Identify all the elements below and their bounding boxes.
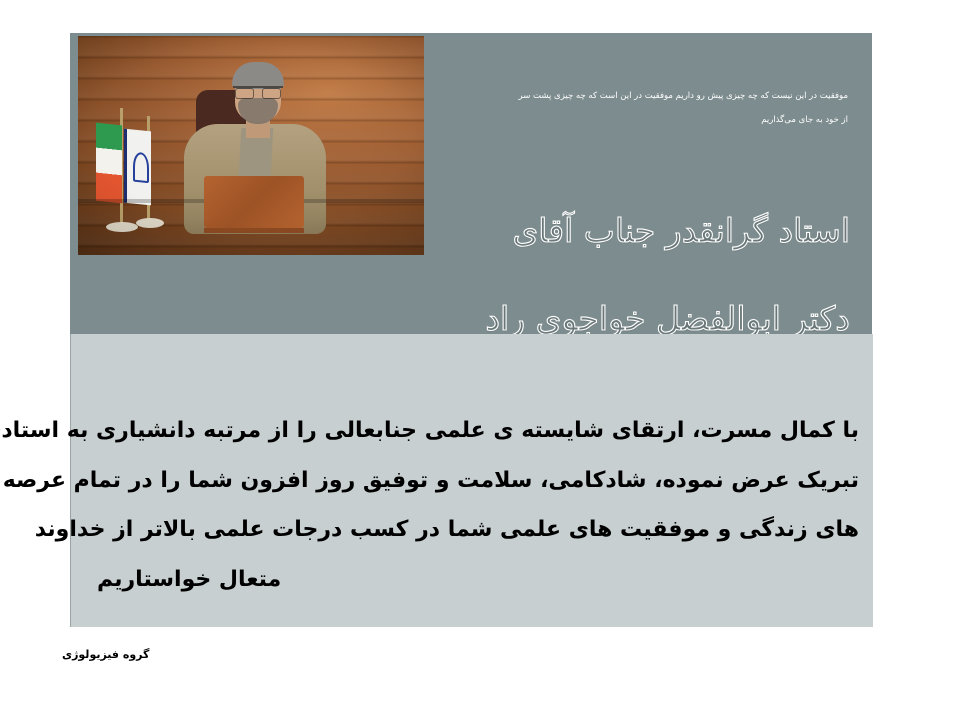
headline-line-2: دکتر ابوالفضل خواجوی راد: [421, 299, 851, 338]
message-line-4: متعال خواستاریم: [86, 555, 860, 605]
quote-line-2: از خود به جای می‌گذاریم: [419, 109, 849, 131]
message-panel: با کمال مسرت، ارتقای شایسته ی علمی جنابع…: [71, 334, 874, 627]
professor-photo: [79, 36, 425, 255]
inspirational-quote: موفقیت در این نیست که چه چیزی پیش رو دار…: [419, 85, 849, 131]
headline-line-1: استاد گرانقدر جناب آقای: [421, 211, 851, 250]
message-line-3: های زندگی و موفقیت های علمی شما در کسب د…: [86, 505, 860, 555]
congratulation-message: با کمال مسرت، ارتقای شایسته ی علمی جنابع…: [86, 406, 860, 604]
department-label: گروه فیزیولوژی: [63, 648, 150, 661]
top-banner: موفقیت در این نیست که چه چیزی پیش رو دار…: [71, 33, 873, 334]
photo-vignette: [79, 36, 425, 255]
message-line-2: تبریک عرض نموده، شادکامی، سلامت و توفیق …: [86, 456, 860, 506]
message-line-1: با کمال مسرت، ارتقای شایسته ی علمی جنابع…: [86, 406, 860, 456]
slide-canvas: { "slide": { "title": "تبریک ارتقاء مرتب…: [0, 0, 959, 709]
quote-line-1: موفقیت در این نیست که چه چیزی پیش رو دار…: [419, 85, 849, 107]
